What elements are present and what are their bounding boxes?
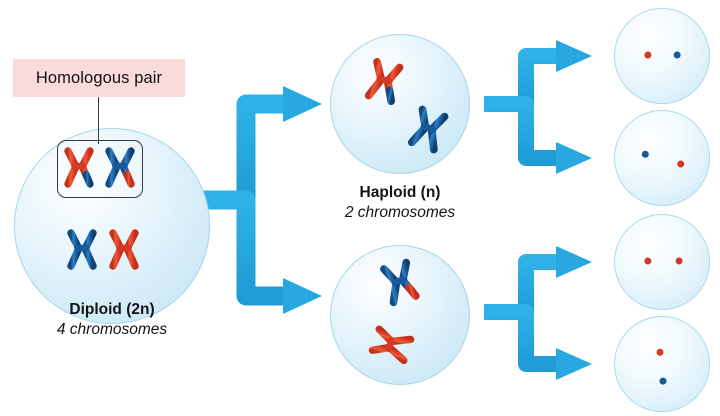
bracket-arrow-meiosis-2-top bbox=[484, 40, 592, 174]
gamete-cell-3 bbox=[614, 214, 710, 310]
homologous-pair-connector-line bbox=[98, 97, 99, 144]
gamete-cell-2 bbox=[614, 110, 710, 206]
diploid-caption: Diploid (2n) 4 chromosomes bbox=[12, 300, 212, 340]
haploid-cell-top bbox=[330, 34, 470, 174]
haploid-caption-subtitle: 2 chromosomes bbox=[320, 203, 480, 223]
meiosis-diagram: Homologous pair Diploid (2n) 4 chromosom… bbox=[0, 0, 720, 416]
gamete-cell-1 bbox=[614, 8, 710, 104]
homologous-pair-box bbox=[57, 140, 143, 198]
haploid-cell-bottom bbox=[330, 245, 470, 385]
gamete-cell-4 bbox=[614, 316, 710, 412]
diploid-caption-subtitle: 4 chromosomes bbox=[12, 320, 212, 340]
haploid-caption-title: Haploid (n) bbox=[320, 183, 480, 203]
haploid-caption: Haploid (n) 2 chromosomes bbox=[320, 183, 480, 223]
homologous-pair-label: Homologous pair bbox=[13, 59, 185, 97]
bracket-arrow-meiosis-1 bbox=[198, 86, 322, 314]
diploid-caption-title: Diploid (2n) bbox=[12, 300, 212, 320]
bracket-arrow-meiosis-2-bottom bbox=[484, 246, 592, 380]
